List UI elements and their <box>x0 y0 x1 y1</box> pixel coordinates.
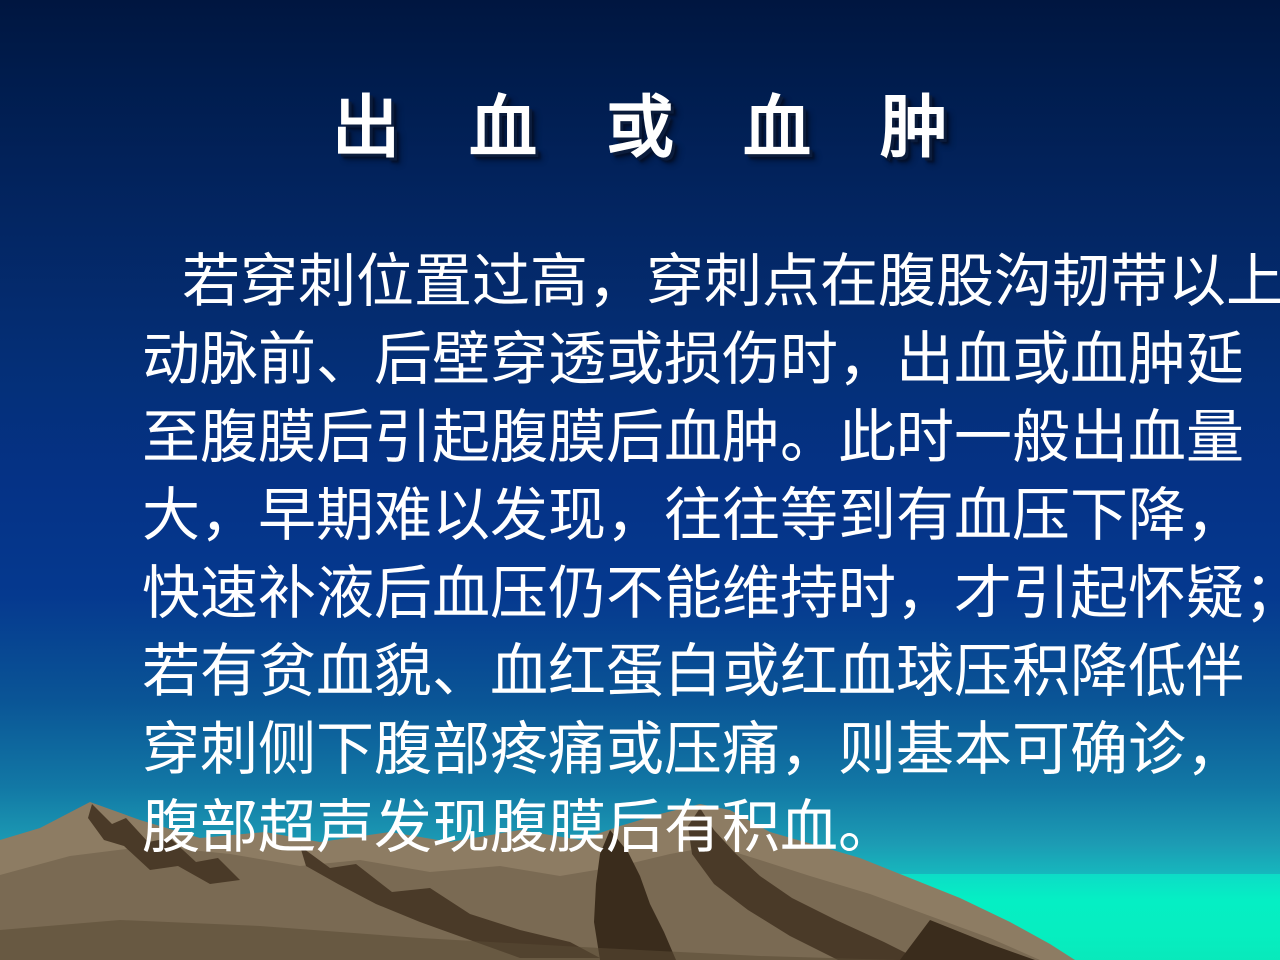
slide-title: 出 血 或 血 肿 <box>0 92 1280 165</box>
body-line-text: 动脉前、后壁穿透或损伤时，出血或血肿延 <box>142 327 1244 392</box>
body-line: 若穿刺位置过高，穿刺点在腹股沟韧带以上， <box>142 243 1280 321</box>
body-line: 穿刺侧下腹部疼痛或压痛，则基本可确诊， <box>142 711 1280 789</box>
body-line: 快速补液后血压仍不能维持时，才引起怀疑； <box>142 555 1280 633</box>
slide-body-text: 若穿刺位置过高，穿刺点在腹股沟韧带以上， 动脉前、后壁穿透或损伤时，出血或血肿延… <box>142 243 1280 867</box>
body-line: 动脉前、后壁穿透或损伤时，出血或血肿延 <box>142 321 1280 399</box>
body-line-text: 腹部超声发现腹膜后有积血。 <box>142 795 896 860</box>
body-line-text: 快速补液后血压仍不能维持时，才引起怀疑； <box>142 561 1280 626</box>
body-line-text: 若有贫血貌、血红蛋白或红血球压积降低伴 <box>142 639 1244 704</box>
body-line: 大，早期难以发现，往往等到有血压下降， <box>142 477 1280 555</box>
body-line-text: 穿刺侧下腹部疼痛或压痛，则基本可确诊， <box>142 717 1244 782</box>
body-line-text: 大，早期难以发现，往往等到有血压下降， <box>142 483 1244 548</box>
body-line-text: 至腹膜后引起腹膜后血肿。此时一般出血量 <box>142 405 1244 470</box>
body-line: 腹部超声发现腹膜后有积血。 <box>142 789 1280 867</box>
presentation-slide: 出 血 或 血 肿 若穿刺位置过高，穿刺点在腹股沟韧带以上， 动脉前、后壁穿透或… <box>0 0 1280 960</box>
body-line: 若有贫血貌、血红蛋白或红血球压积降低伴 <box>142 633 1280 711</box>
body-line: 至腹膜后引起腹膜后血肿。此时一般出血量 <box>142 399 1280 477</box>
body-line-text: 若穿刺位置过高，穿刺点在腹股沟韧带以上， <box>142 243 1280 321</box>
